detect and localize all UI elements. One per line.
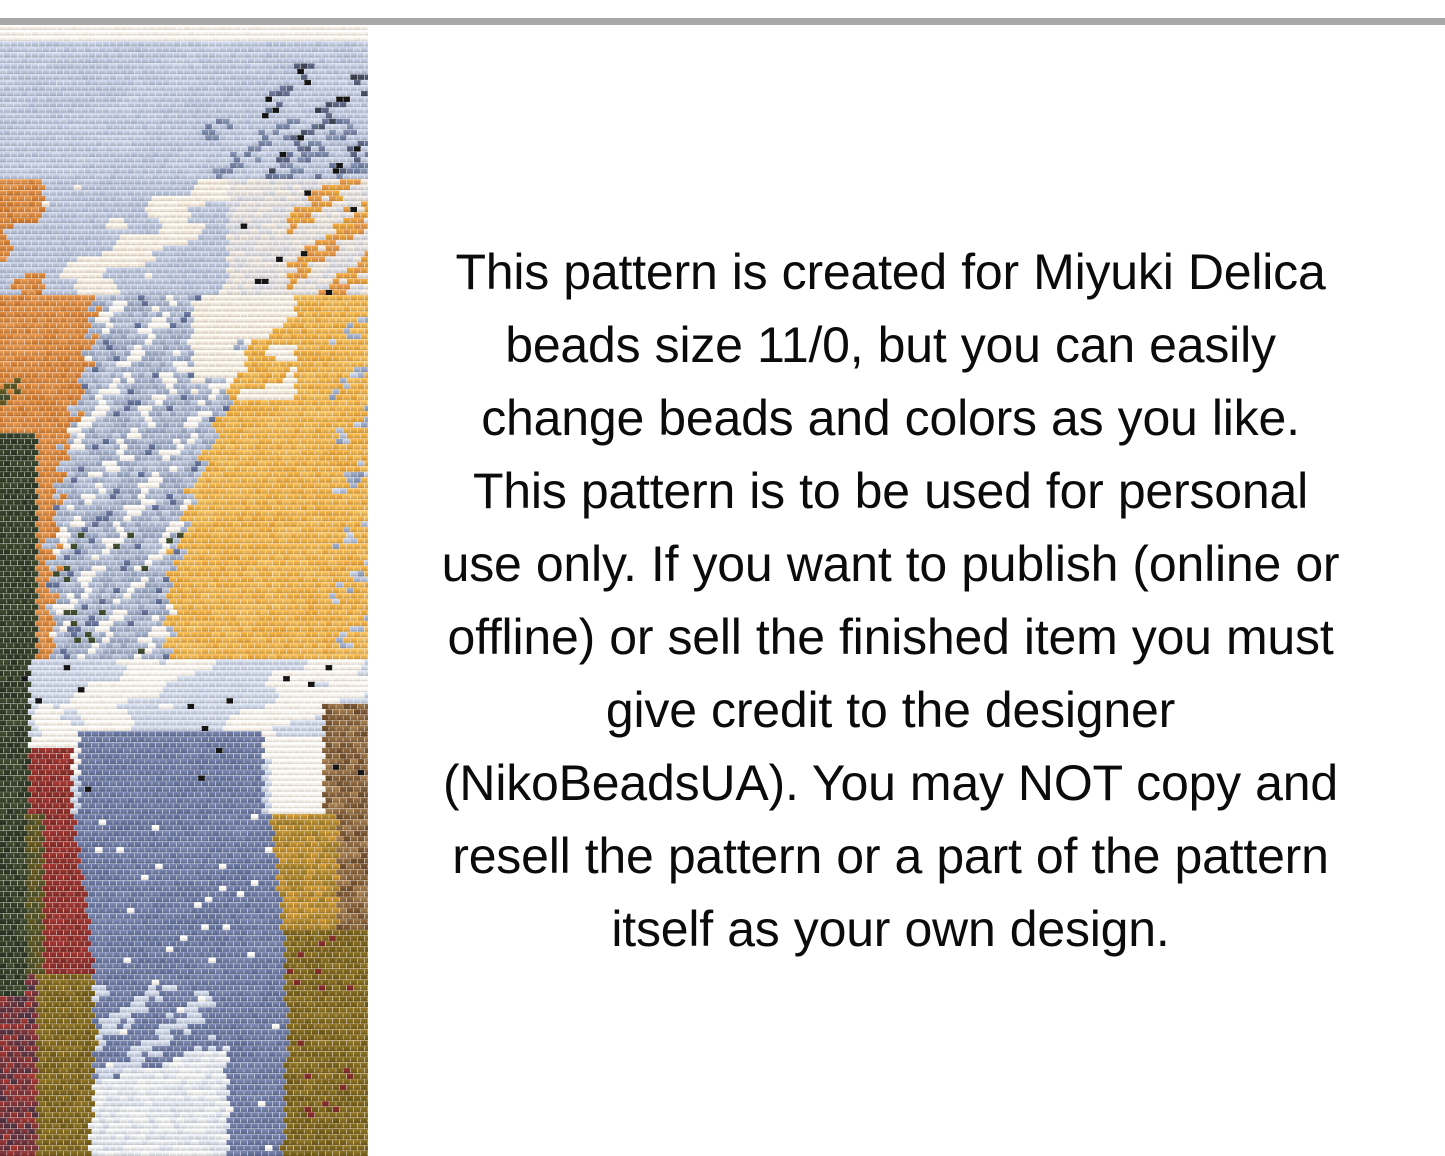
pattern-info-page: This pattern is created for Miyuki Delic… xyxy=(0,0,1445,1156)
pattern-usage-description: This pattern is created for Miyuki Delic… xyxy=(428,236,1353,966)
top-white-strip xyxy=(0,0,1445,18)
bead-pattern-preview xyxy=(0,25,368,1156)
horizontal-divider-bar xyxy=(0,18,1445,25)
bead-pattern-canvas xyxy=(0,25,368,1156)
